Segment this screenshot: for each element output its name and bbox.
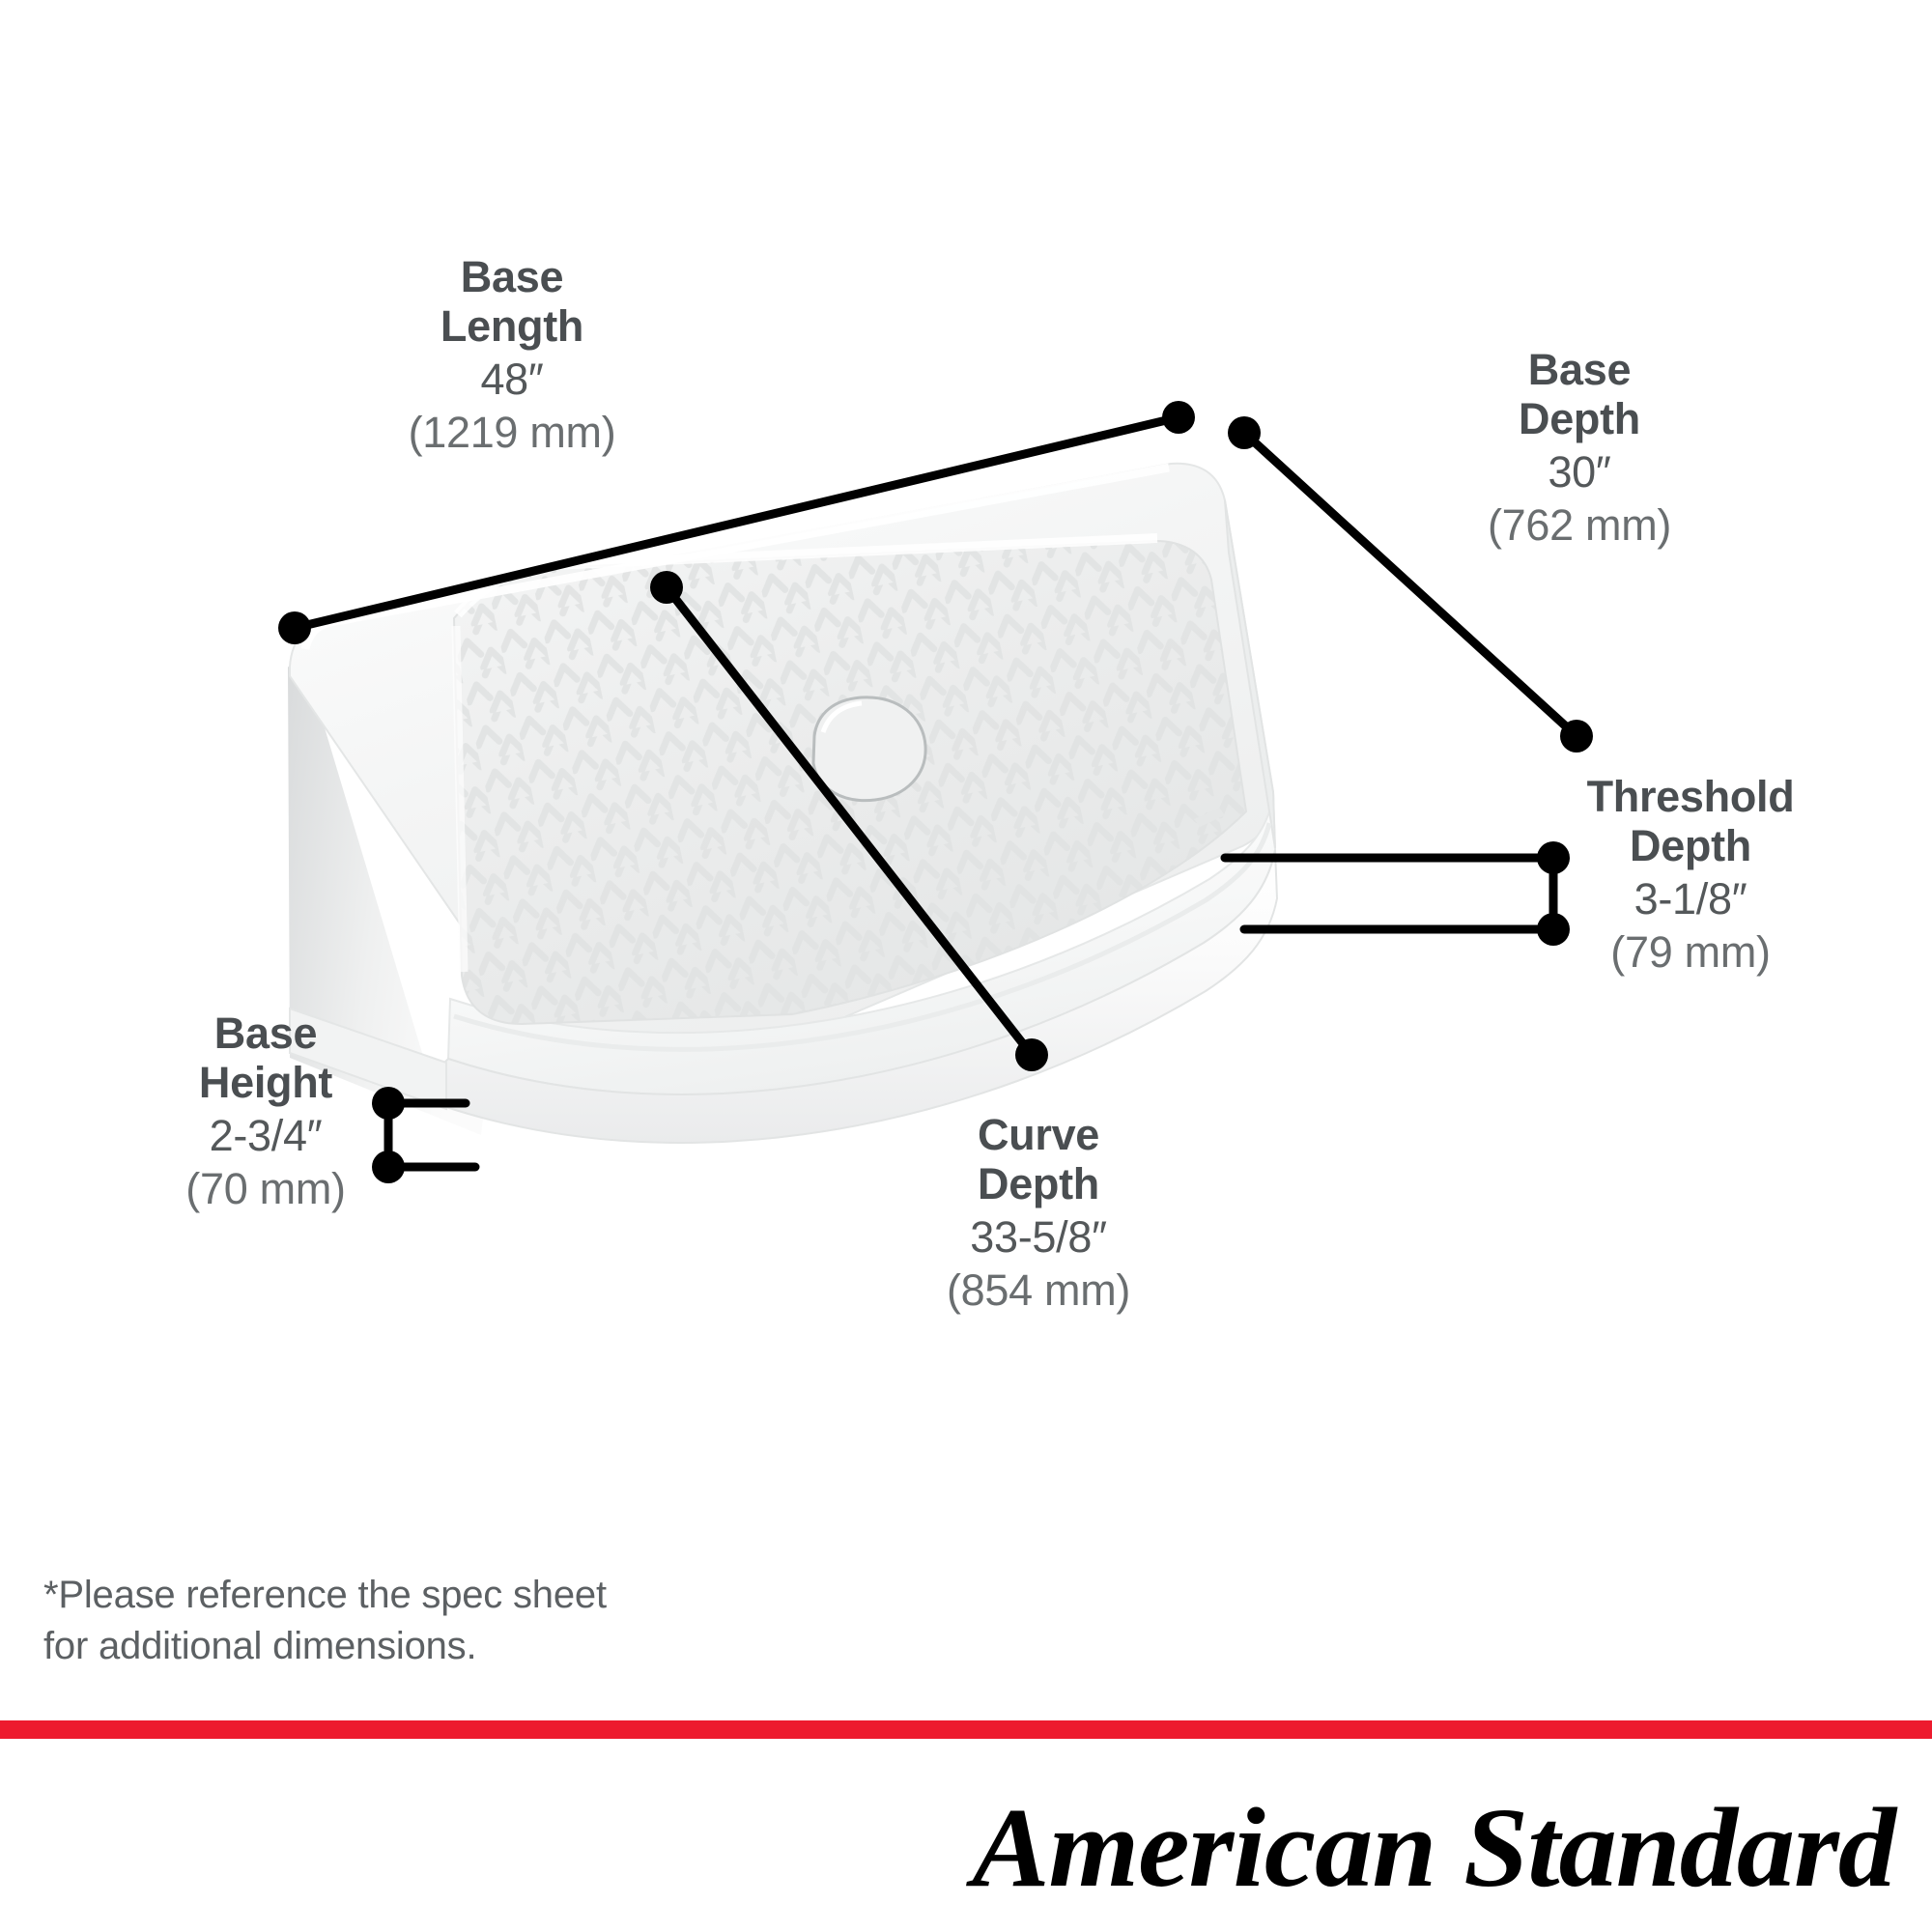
american-standard-logo: American Standard xyxy=(972,1782,1895,1914)
callout-curve-depth-imperial: 33-5/8″ xyxy=(898,1213,1179,1263)
callout-base-depth-title-line1: Base xyxy=(1444,346,1715,395)
callout-threshold-depth-imperial: 3-1/8″ xyxy=(1550,875,1831,924)
callout-base-length-metric: (1219 mm) xyxy=(377,409,647,458)
callout-threshold-depth-title-line1: Threshold xyxy=(1550,773,1831,822)
callout-threshold-depth-metric: (79 mm) xyxy=(1550,928,1831,978)
callout-base-depth: Base Depth 30″ (762 mm) xyxy=(1444,346,1715,550)
brand-red-bar xyxy=(0,1720,1932,1739)
callout-base-length-title-line2: Length xyxy=(377,302,647,352)
callout-base-length: Base Length 48″ (1219 mm) xyxy=(377,253,647,457)
callout-base-height-imperial: 2-3/4″ xyxy=(135,1112,396,1161)
shower-base-illustration xyxy=(288,464,1294,1143)
footnote-line-2: for additional dimensions. xyxy=(43,1621,607,1672)
callout-base-height-title-line2: Height xyxy=(135,1059,396,1108)
callout-base-depth-imperial: 30″ xyxy=(1444,448,1715,497)
callout-base-length-title-line1: Base xyxy=(377,253,647,302)
callout-threshold-depth: Threshold Depth 3-1/8″ (79 mm) xyxy=(1550,773,1831,977)
callout-curve-depth-metric: (854 mm) xyxy=(898,1266,1179,1316)
callout-base-height: Base Height 2-3/4″ (70 mm) xyxy=(135,1009,396,1213)
callout-curve-depth-title-line2: Depth xyxy=(898,1160,1179,1209)
drain-icon xyxy=(813,697,925,801)
callout-base-depth-title-line2: Depth xyxy=(1444,395,1715,444)
spec-sheet-footnote: *Please reference the spec sheet for add… xyxy=(43,1570,607,1672)
callout-threshold-depth-title-line2: Depth xyxy=(1550,822,1831,871)
callout-base-depth-metric: (762 mm) xyxy=(1444,501,1715,551)
footnote-line-1: *Please reference the spec sheet xyxy=(43,1570,607,1621)
callout-curve-depth: Curve Depth 33-5/8″ (854 mm) xyxy=(898,1111,1179,1315)
callout-base-length-imperial: 48″ xyxy=(377,355,647,405)
callout-base-height-title-line1: Base xyxy=(135,1009,396,1059)
callout-base-height-metric: (70 mm) xyxy=(135,1165,396,1214)
product-dimension-diagram: Base Length 48″ (1219 mm) Base Depth 30″… xyxy=(0,0,1932,1932)
callout-curve-depth-title-line1: Curve xyxy=(898,1111,1179,1160)
